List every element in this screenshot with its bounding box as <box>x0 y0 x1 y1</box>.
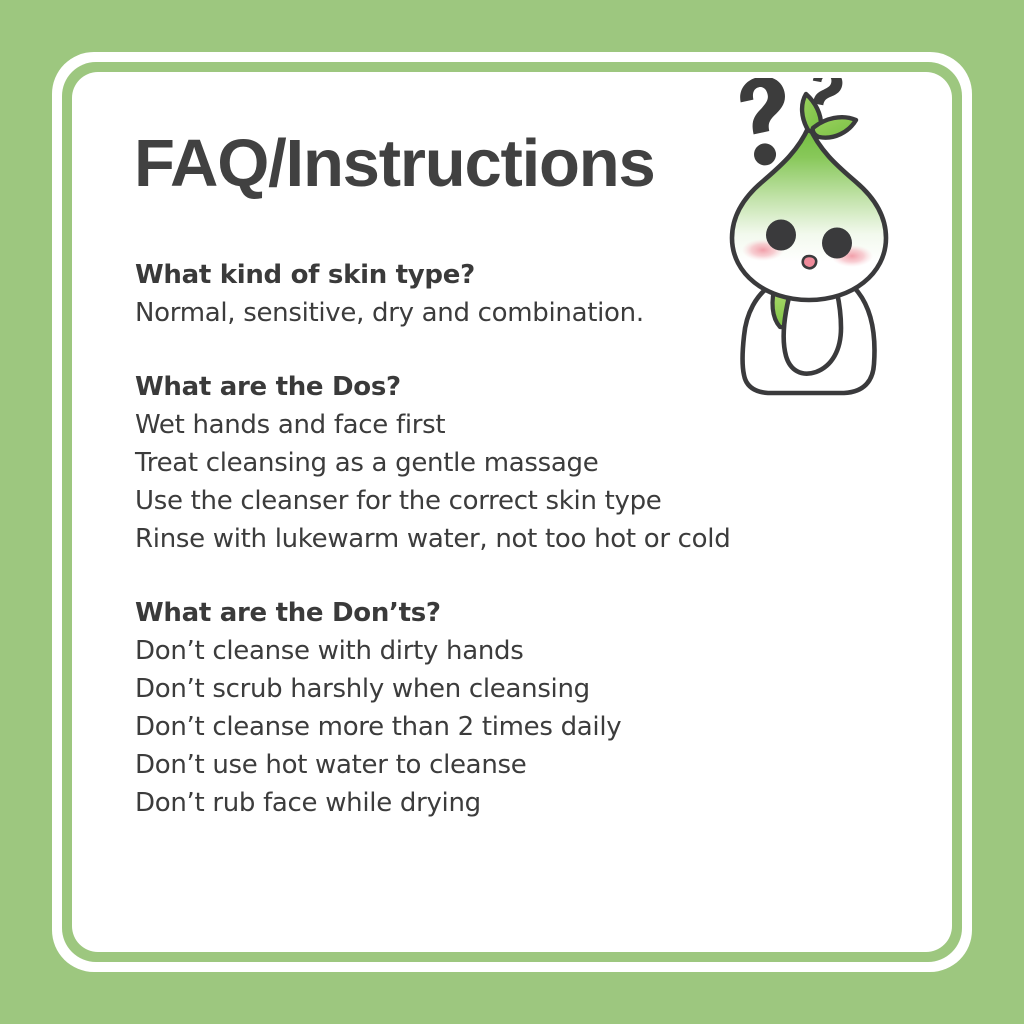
page-title: FAQ/Instructions <box>134 130 655 197</box>
faq-poster: FAQ/Instructions What kind of skin type?… <box>0 0 1024 1024</box>
faq-answer-line: Don’t scrub harshly when cleansing <box>135 670 895 708</box>
sprout-mascot-icon <box>680 78 930 408</box>
faq-question: What are the Don’ts? <box>135 594 895 632</box>
content-card: FAQ/Instructions What kind of skin type?… <box>72 72 952 952</box>
faq-answer-line: Don’t cleanse more than 2 times daily <box>135 708 895 746</box>
mascot-eye-right <box>822 228 852 259</box>
faq-section-donts: What are the Don’ts? Don’t cleanse with … <box>135 594 895 822</box>
faq-answer-line: Rinse with lukewarm water, not too hot o… <box>135 520 895 558</box>
faq-answer-line: Don’t rub face while drying <box>135 784 895 822</box>
faq-answer-line: Treat cleansing as a gentle massage <box>135 444 895 482</box>
faq-answer-line: Don’t use hot water to cleanse <box>135 746 895 784</box>
faq-answer-line: Don’t cleanse with dirty hands <box>135 632 895 670</box>
faq-answer-line: Wet hands and face first <box>135 406 895 444</box>
mascot-nose <box>803 256 816 268</box>
mascot-eye-left <box>766 220 796 251</box>
faq-answer-line: Use the cleanser for the correct skin ty… <box>135 482 895 520</box>
